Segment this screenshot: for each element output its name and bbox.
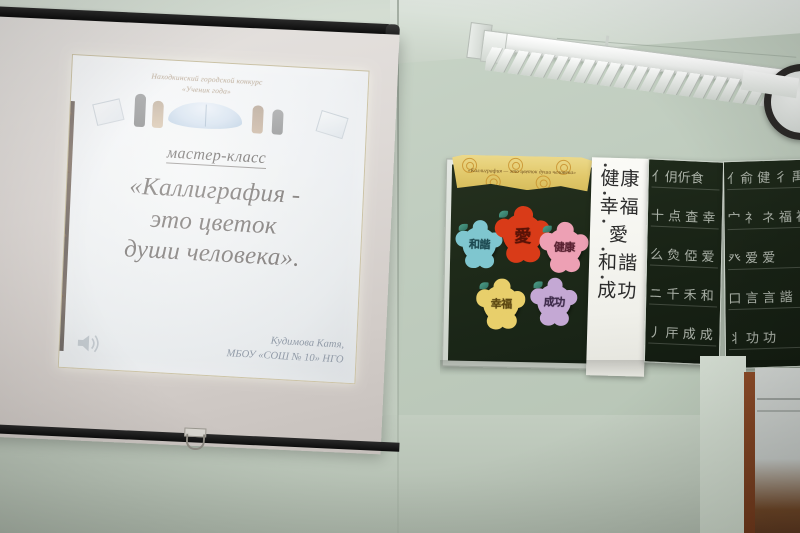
- student-figure: [152, 101, 164, 129]
- flower-petal: [493, 278, 510, 294]
- paper-scroll-characters: 健康幸福愛和諧成功: [586, 157, 650, 377]
- paper-flower-success: 成功: [537, 284, 572, 319]
- flower-character: 健康: [554, 239, 575, 255]
- wall-return: [700, 356, 746, 533]
- chalkboard-panel-left: 亻仴伒食十 点 査 幸么 烉 俹 爱ニ 千 禾 和丿 厈 成 成: [644, 158, 724, 365]
- door-jamb: [744, 372, 755, 533]
- scroll-bullet-dot: [604, 164, 607, 167]
- scroll-bullet-dot: [601, 248, 604, 251]
- paper-sheet-icon: [316, 110, 349, 139]
- doorway-trim: [757, 410, 800, 412]
- chalkboard-stroke-row: ニ 千 禾 和: [649, 282, 717, 307]
- student-figure: [134, 94, 146, 128]
- slide-title: «Каллиграфия - это цветок души человека»…: [74, 167, 354, 277]
- flower-character: 愛: [514, 221, 531, 246]
- slide-subtitle-text: мастер-класс: [166, 144, 266, 169]
- chalkboard-stroke-row: 癶 爱 爱: [728, 246, 800, 270]
- slide-author-block: Кудимова Катя, МБОУ «СОШ № 10» НГО: [226, 331, 344, 369]
- flower-petal: [562, 256, 580, 272]
- flower-petal: [499, 313, 517, 329]
- chalkboard-group: 亻仴伒食十 点 査 幸么 烉 俹 爱ニ 千 禾 和丿 厈 成 成 亻俞 健 彳 …: [646, 160, 800, 368]
- leaf-icon: [499, 211, 508, 218]
- contest-header-text: Находкинский городской конкурс «Ученик г…: [131, 70, 282, 100]
- chalkboard-stroke-row: 宀 礻 ネ 福 福: [727, 206, 800, 230]
- scroll-bullet-dot: [603, 192, 606, 195]
- chalkboard-stroke-row: 亻俞 健 彳 禹 公: [727, 166, 800, 190]
- scroll-character-row: 愛: [609, 226, 630, 246]
- flower-petal: [552, 311, 569, 326]
- leaf-icon: [533, 281, 542, 288]
- open-book-icon: [168, 100, 243, 130]
- flower-petal: [478, 253, 495, 268]
- paper-flower-happiness: 幸福: [483, 285, 520, 322]
- doorway-trim: [757, 398, 800, 400]
- chalkboard-stroke-row: 亻仴伒食: [652, 165, 720, 190]
- chalkboard-stroke-row: 十 点 査 幸: [651, 204, 719, 229]
- flower-petal: [472, 220, 488, 235]
- classroom-photo-scene: Находкинский городской конкурс «Ученик г…: [0, 0, 800, 533]
- flower-character: 和諧: [469, 236, 490, 252]
- paper-flower-health: 健康: [546, 229, 583, 266]
- slide-header-banner: Находкинский городской конкурс «Ученик г…: [76, 61, 362, 141]
- scroll-character-row: 成功: [597, 281, 638, 301]
- flower-character: 幸福: [491, 295, 512, 311]
- scroll-bullet-dot: [602, 220, 605, 223]
- projected-slide: Находкинский городской конкурс «Ученик г…: [58, 54, 370, 384]
- chalkboard-stroke-row: 丿 厈 成 成: [648, 321, 716, 346]
- chalkboard-stroke-row: 口 言 言 諧: [728, 286, 800, 310]
- student-figure: [252, 105, 264, 134]
- leaf-icon: [479, 282, 488, 289]
- chalkboard-stroke-row: 么 烉 俹 爱: [650, 243, 718, 268]
- scroll-character-row: 幸福: [599, 197, 640, 217]
- chalkboard-stroke-row: 丬 功 功: [729, 326, 800, 350]
- open-doorway: [755, 368, 800, 533]
- paper-flower-harmony: 和諧: [462, 227, 497, 262]
- board-banner-text: «Каллиграфия — это цветок души человека»: [452, 168, 592, 177]
- board-surface: 和諧愛健康幸福成功: [448, 165, 592, 364]
- scroll-character-row: 健康: [600, 169, 641, 189]
- flower-petal: [520, 244, 540, 262]
- chalkboard-panel-right: 亻俞 健 彳 禹 公宀 礻 ネ 福 福癶 爱 爱口 言 言 諧丬 功 功: [723, 159, 800, 370]
- scroll-character-row: 和諧: [598, 253, 639, 273]
- student-figure: [272, 109, 284, 135]
- bulletin-board: 和諧愛健康幸福成功 «Каллиграфия — это цветок души…: [442, 158, 598, 369]
- flower-petal: [557, 222, 574, 238]
- leaf-icon: [459, 224, 468, 231]
- flower-character: 成功: [544, 294, 565, 310]
- screen-pull-handle[interactable]: [184, 428, 207, 451]
- paper-flower-love: 愛: [502, 214, 543, 255]
- paper-sheet-icon: [92, 98, 124, 126]
- slide-subtitle: мастер-класс: [68, 139, 364, 174]
- leaf-icon: [543, 225, 552, 232]
- scroll-bullet-dot: [601, 276, 604, 279]
- board-banner: «Каллиграфия — это цветок души человека»: [452, 155, 593, 192]
- speaker-icon[interactable]: [75, 332, 102, 355]
- flower-petal: [547, 278, 563, 293]
